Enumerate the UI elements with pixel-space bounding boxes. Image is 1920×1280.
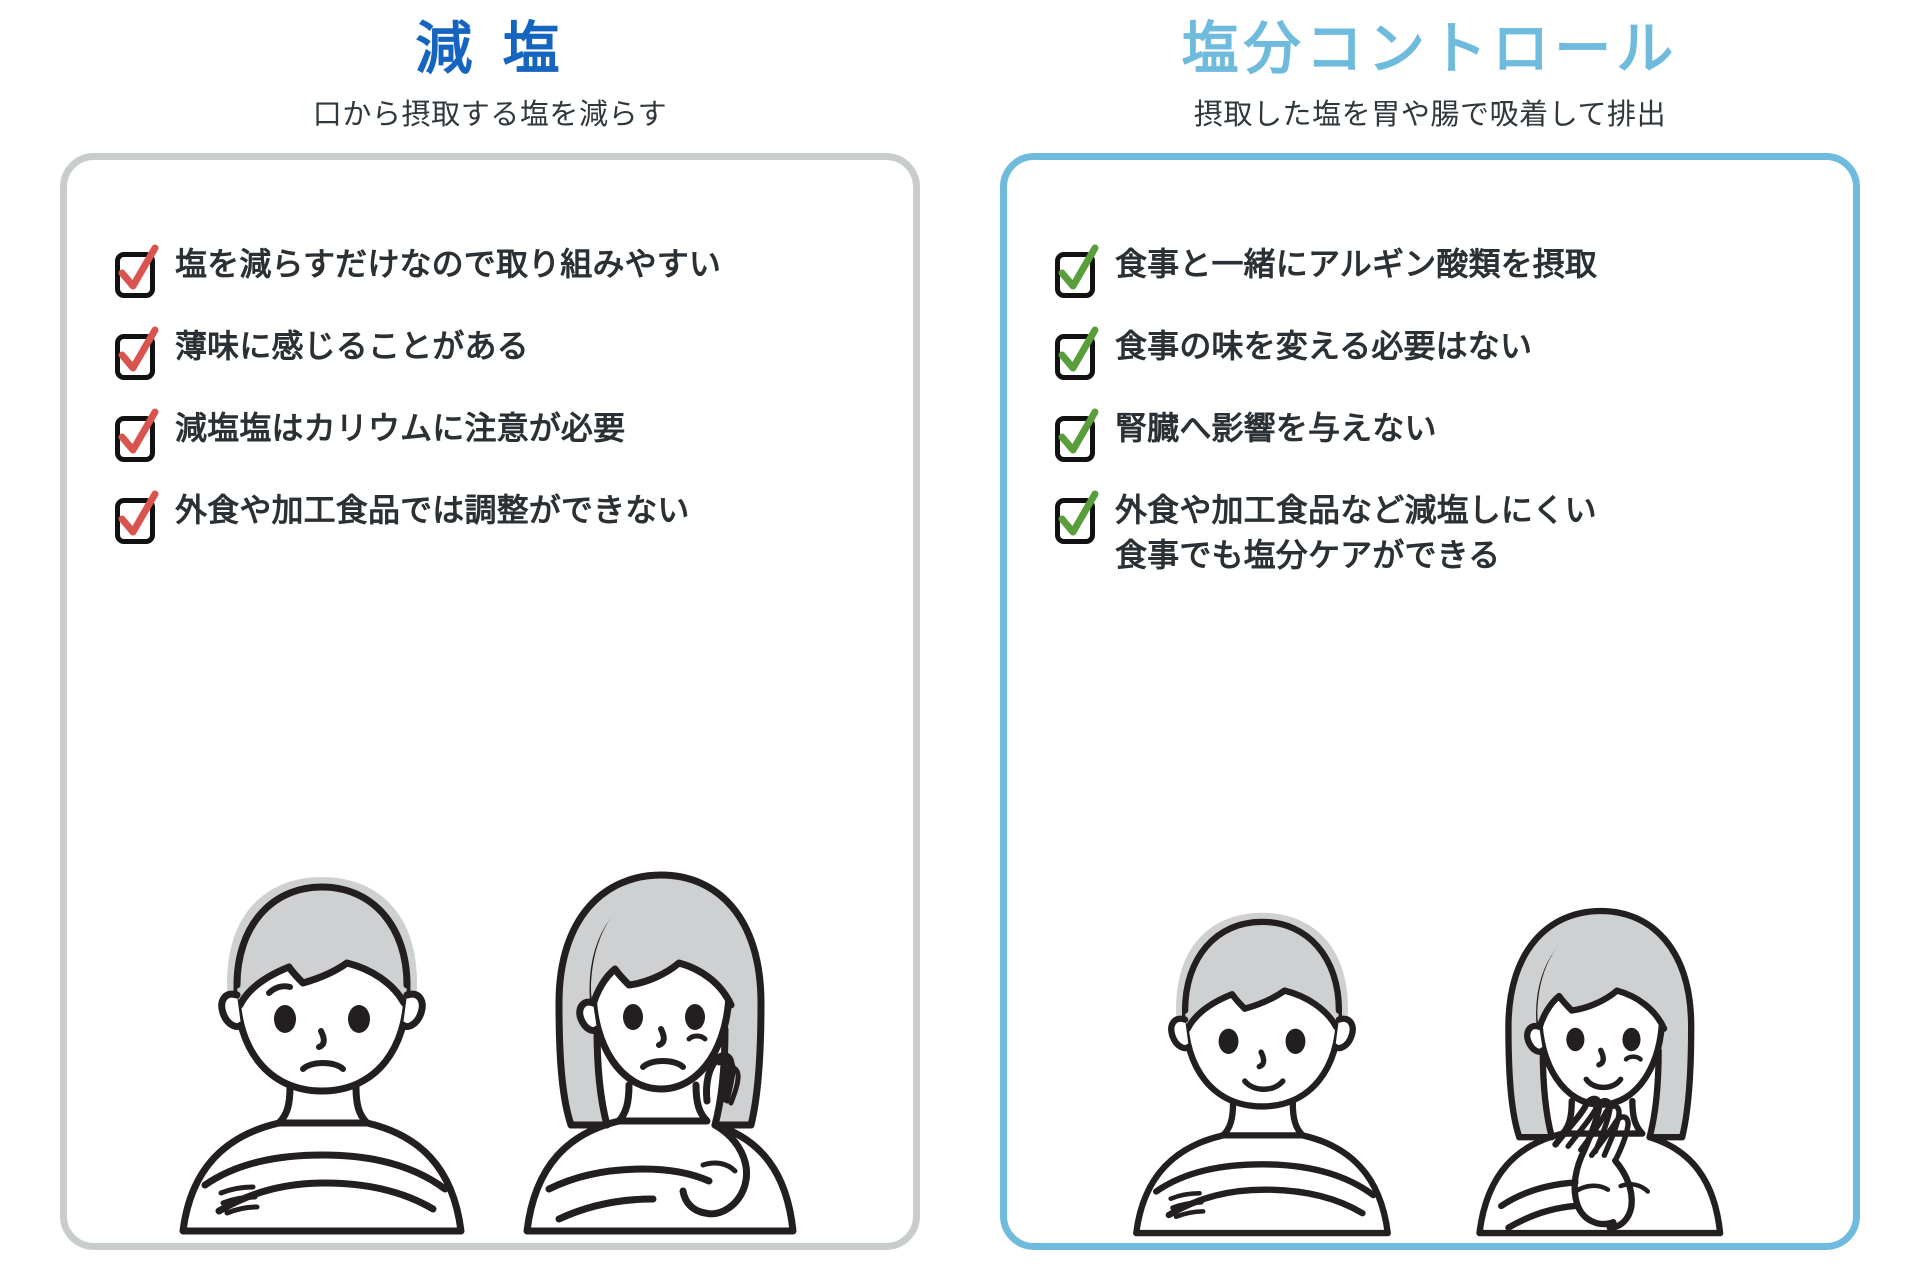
column-title-reduce-salt: 減 塩	[415, 18, 564, 82]
checklist-reduce-salt: 塩を減らすだけなので取り組みやすい 薄味に感じることがある	[67, 160, 913, 544]
checklist-item-text: 食事の味を変える必要はない	[1115, 324, 1532, 369]
card-reduce-salt: 塩を減らすだけなので取り組みやすい 薄味に感じることがある	[60, 153, 920, 1250]
checklist-item: 外食や加工食品では調整ができない	[113, 488, 897, 544]
checklist-item-text: 食事と一緒にアルギン酸類を摂取	[1115, 242, 1597, 287]
checklist-item: 減塩塩はカリウムに注意が必要	[113, 406, 897, 462]
checklist-item: 食事と一緒にアルギン酸類を摂取	[1053, 242, 1837, 298]
comparison-columns: 減 塩 口から摂取する塩を減らす 塩を減らすだけなので取り組みやすい	[0, 0, 1920, 1280]
checkbox-checked-icon	[113, 492, 159, 544]
column-salt-control: 塩分コントロール 摂取した塩を胃や腸で吸着して排出 食事と一緒にアルギン酸	[1000, 18, 1860, 1250]
column-title-salt-control: 塩分コントロール	[1181, 18, 1678, 82]
checklist-item-text: 外食や加工食品など減塩しにくい 食事でも塩分ケアができる	[1115, 488, 1597, 579]
card-salt-control: 食事と一緒にアルギン酸類を摂取 食事の味を変える必要はない	[1000, 153, 1860, 1250]
illustration-woman-hands-together-smiling	[1433, 873, 1763, 1250]
checkbox-checked-icon	[1053, 410, 1099, 462]
checklist-item: 塩を減らすだけなので取り組みやすい	[113, 242, 897, 298]
illustration-man-arms-crossed-worried	[157, 833, 487, 1250]
checklist-item-text: 腎臓へ影響を与えない	[1115, 406, 1437, 451]
infographic-board: 減 塩 口から摂取する塩を減らす 塩を減らすだけなので取り組みやすい	[0, 0, 1920, 1280]
checkbox-checked-icon	[113, 246, 159, 298]
illustration-woman-hand-on-cheek-worried	[493, 833, 823, 1250]
column-subtitle-salt-control: 摂取した塩を胃や腸で吸着して排出	[1194, 91, 1666, 133]
checklist-item-text: 薄味に感じることがある	[175, 324, 529, 369]
illustration-group-salt-control	[1007, 579, 1853, 1250]
checkbox-checked-icon	[1053, 246, 1099, 298]
checklist-item-text: 減塩塩はカリウムに注意が必要	[175, 406, 625, 451]
checklist-item: 外食や加工食品など減塩しにくい 食事でも塩分ケアができる	[1053, 488, 1837, 579]
checkbox-checked-icon	[113, 328, 159, 380]
checklist-item: 腎臓へ影響を与えない	[1053, 406, 1837, 462]
checkbox-checked-icon	[1053, 492, 1099, 544]
checklist-item: 食事の味を変える必要はない	[1053, 324, 1837, 380]
checklist-item: 薄味に感じることがある	[113, 324, 897, 380]
checkbox-checked-icon	[1053, 328, 1099, 380]
illustration-group-reduce-salt	[67, 544, 913, 1250]
checklist-salt-control: 食事と一緒にアルギン酸類を摂取 食事の味を変える必要はない	[1007, 160, 1853, 579]
column-subtitle-reduce-salt: 口から摂取する塩を減らす	[313, 91, 667, 133]
checklist-item-text: 塩を減らすだけなので取り組みやすい	[175, 242, 721, 287]
illustration-man-arms-crossed-smiling	[1097, 873, 1427, 1250]
checklist-item-text: 外食や加工食品では調整ができない	[175, 488, 690, 533]
column-reduce-salt: 減 塩 口から摂取する塩を減らす 塩を減らすだけなので取り組みやすい	[60, 18, 920, 1250]
checkbox-checked-icon	[113, 410, 159, 462]
